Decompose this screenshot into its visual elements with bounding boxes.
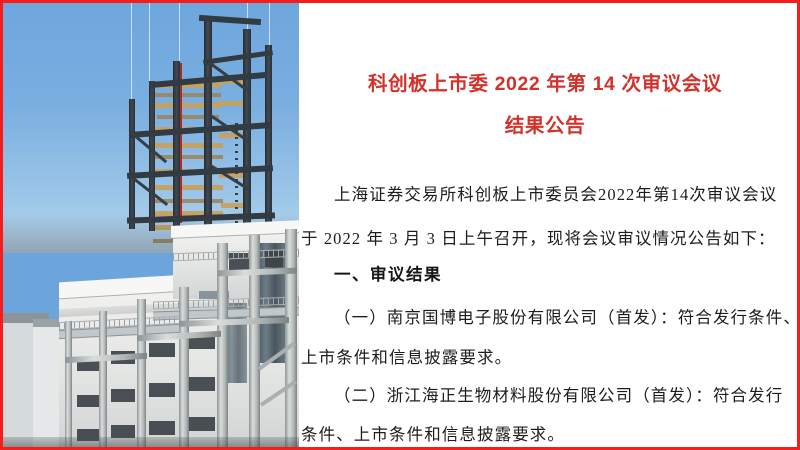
- steel-column: [65, 321, 72, 447]
- building-base-shadow: [3, 437, 299, 447]
- window: [149, 383, 175, 397]
- window: [149, 421, 175, 435]
- tower-column: [129, 99, 135, 229]
- steel-column: [285, 229, 297, 447]
- steel-column: [137, 299, 146, 447]
- steel-column: [179, 287, 189, 447]
- steel-column: [249, 235, 260, 447]
- section-heading-review-results: 一、审议结果: [301, 267, 442, 284]
- document-title-line-2: 结果公告: [299, 117, 791, 137]
- scaffold-plank: [151, 185, 223, 190]
- result-item-2-line-1: （二）浙江海正生物材料股份有限公司（首发）：符合发行: [301, 388, 795, 405]
- window: [77, 395, 99, 407]
- result-item-1-line-2: 上市条件和信息披露要求。: [301, 350, 795, 367]
- window: [149, 343, 175, 357]
- announcement-document: 科创板上市委 2022 年第 14 次审议会议 结果公告 上海证券交易所科创板上…: [299, 3, 797, 447]
- intro-paragraph-line-1: 上海证券交易所科创板上市委员会2022年第14次审议会议: [301, 187, 795, 204]
- scaffold-plank: [153, 143, 223, 148]
- cable-wire: [179, 3, 180, 63]
- result-item-2-line-2: 条件、上市条件和信息披露要求。: [301, 427, 795, 444]
- industrial-plant-photo: [3, 3, 299, 447]
- window: [189, 377, 215, 391]
- window: [189, 417, 215, 431]
- result-item-1-line-1: （一）南京国博电子股份有限公司（首发）：符合发行条件、: [301, 310, 795, 327]
- tower-column: [243, 29, 251, 239]
- document-title-line-1: 科创板上市委 2022 年第 14 次审议会议: [299, 75, 791, 95]
- screenshot-root: 科创板上市委 2022 年第 14 次审议会议 结果公告 上海证券交易所科创板上…: [0, 0, 800, 450]
- tower-column: [173, 61, 180, 233]
- steel-column: [99, 311, 107, 447]
- window: [111, 389, 135, 402]
- intro-paragraph-line-2: 于 2022 年 3 月 3 日上午召开，现将会议审议情况公告如下：: [301, 231, 795, 248]
- tower-column: [149, 81, 155, 231]
